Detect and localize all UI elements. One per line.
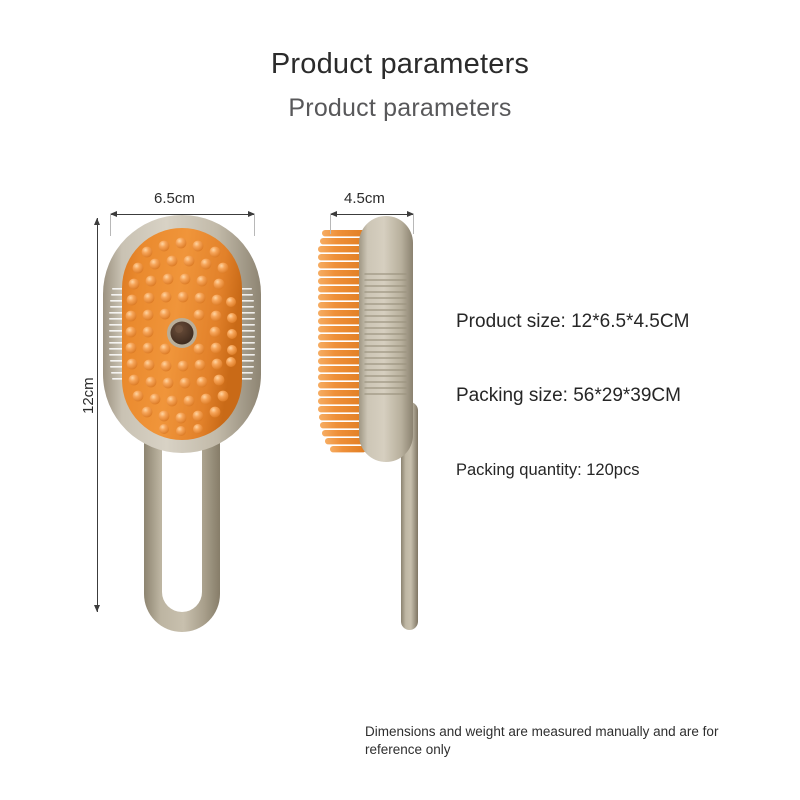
- page-title: Product parameters: [0, 48, 800, 81]
- dimension-arrow-side-width: [330, 214, 414, 215]
- dimension-tick-front-right: [254, 214, 255, 236]
- front-steam-nozzle: [167, 318, 197, 348]
- spec-packing-quantity: Packing quantity: 120pcs: [456, 461, 639, 480]
- side-bristles: [318, 230, 366, 452]
- dimension-tick-side-right: [413, 214, 414, 234]
- dimension-label-front-width: 6.5cm: [154, 190, 195, 207]
- product-parameters-page: Product parameters Product parameters: [0, 0, 800, 800]
- page-subtitle: Product parameters: [0, 94, 800, 123]
- dimension-arrow-front-height: [97, 218, 98, 612]
- spec-product-size: Product size: 12*6.5*4.5CM: [456, 311, 689, 333]
- product-front-view: [100, 212, 265, 632]
- side-comb-grooves: [365, 274, 406, 394]
- spec-packing-size: Packing size: 56*29*39CM: [456, 385, 681, 407]
- dimension-tick-side-left: [330, 214, 331, 234]
- dimension-tick-front-left: [110, 214, 111, 236]
- side-body: [359, 216, 413, 462]
- dimension-label-front-height: 12cm: [80, 377, 97, 414]
- product-side-view: [318, 212, 448, 632]
- dimension-arrow-front-width: [110, 214, 255, 215]
- footer-disclaimer: Dimensions and weight are measured manua…: [365, 723, 760, 759]
- dimension-label-side-width: 4.5cm: [344, 190, 385, 207]
